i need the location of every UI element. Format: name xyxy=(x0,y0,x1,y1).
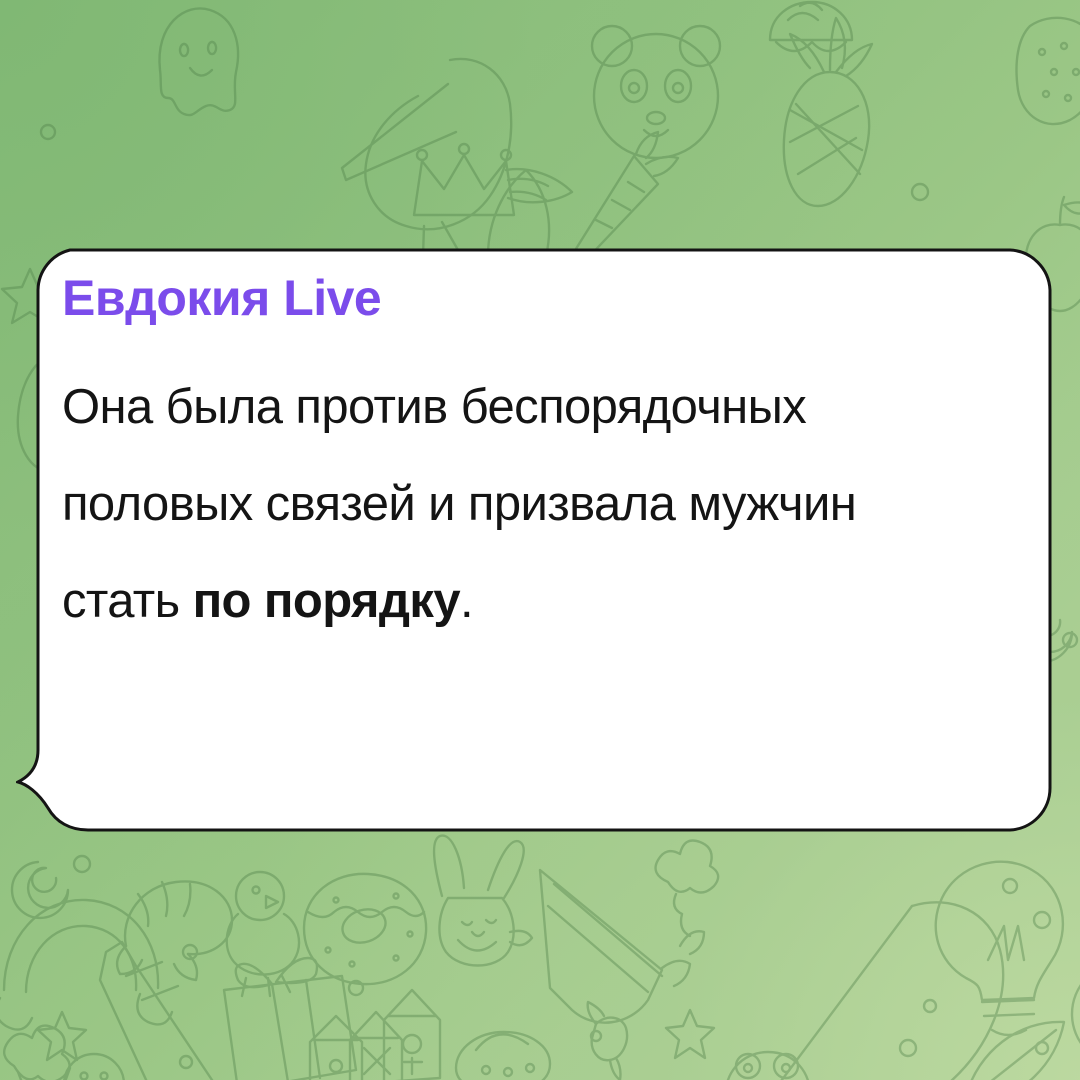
message-line-3-bold: по порядку xyxy=(193,574,460,628)
rainbow-doodle xyxy=(0,900,172,1030)
ghost-doodle xyxy=(159,8,238,115)
ice-cream-doodle xyxy=(4,1026,70,1080)
strawberry-doodle xyxy=(1017,18,1080,124)
cloud-doodle xyxy=(656,841,719,937)
gift-box-doodle xyxy=(224,958,356,1080)
castle-doodle xyxy=(310,990,440,1080)
message-text: Она была против беспорядочных половых св… xyxy=(62,359,1002,650)
bunny-doodle xyxy=(434,836,532,966)
message-line-3: стать по порядку. xyxy=(62,553,1002,650)
bubble-content: Евдокия Live Она была против беспорядочн… xyxy=(62,272,1002,650)
message-line-2: половых связей и призвала мужчин xyxy=(62,456,1002,553)
frog-doodle xyxy=(725,1052,810,1080)
message-line-3-suffix: . xyxy=(460,574,473,628)
star-doodle xyxy=(666,1010,714,1058)
donut-doodle xyxy=(304,874,426,984)
message-line-1: Она была против беспорядочных xyxy=(62,359,1002,456)
dot-doodle xyxy=(41,125,55,139)
message-line-3-prefix: стать xyxy=(62,574,193,628)
ufo-doodle xyxy=(456,1032,550,1080)
leaf-doodle xyxy=(966,1022,1064,1080)
eight-ball-doodle xyxy=(1072,962,1080,1066)
message-bubble[interactable]: Евдокия Live Она была против беспорядочн… xyxy=(16,248,1052,834)
screenshot-root: Евдокия Live Она была против беспорядочн… xyxy=(0,0,1080,1080)
channel-title: Евдокия Live xyxy=(62,272,1002,325)
pineapple-doodle xyxy=(784,18,872,206)
spiral-doodle xyxy=(12,862,68,918)
